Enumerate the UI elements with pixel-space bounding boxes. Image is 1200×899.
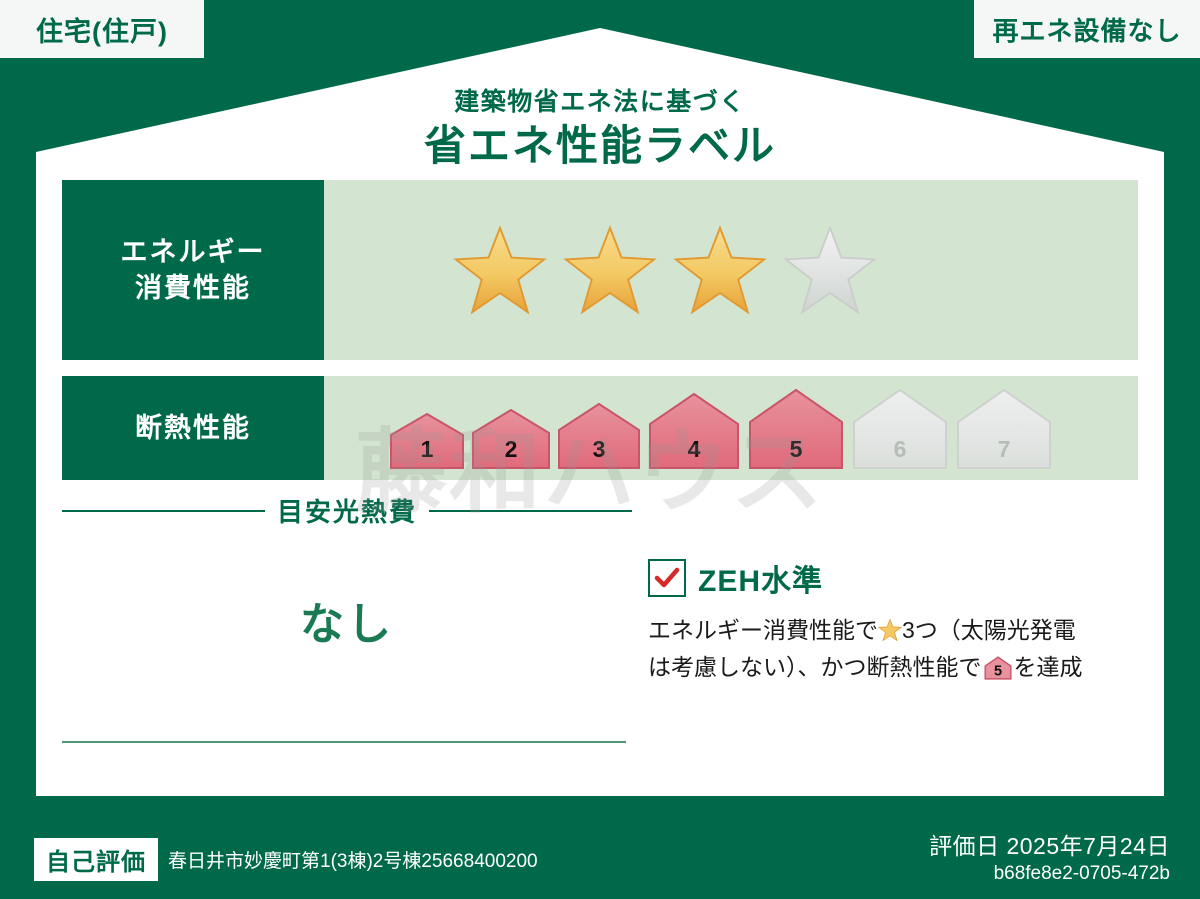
row-insulation-label: 断熱性能 <box>62 376 324 480</box>
inline-house-icon: 5 <box>984 656 1012 680</box>
row-energy-label-line1: エネルギー <box>121 234 266 270</box>
tag-building-type: 住宅(住戸) <box>0 0 204 58</box>
utility-cost-value: なし <box>62 588 632 652</box>
house-icon-level-2: 2 <box>470 406 552 477</box>
star-icon-filled-2 <box>562 224 658 316</box>
row-insulation-label-line1: 断熱性能 <box>135 410 251 446</box>
checkbox-checked-icon[interactable] <box>648 559 686 597</box>
house-level-number: 7 <box>954 436 1054 463</box>
house-icon-level-1: 1 <box>388 410 466 477</box>
inline-star-icon <box>878 618 902 642</box>
zeh-standard-block: ZEH水準 エネルギー消費性能で3つ（太陽光発電 は考慮しない）、かつ断熱性能で… <box>648 556 1148 687</box>
star-icon-filled-3 <box>672 224 768 316</box>
row-energy-label-line2: 消費性能 <box>135 270 251 306</box>
house-icon-level-5: 5 <box>746 386 846 477</box>
house-level-number: 4 <box>646 436 742 463</box>
page-title: 省エネ性能ラベル <box>0 112 1200 173</box>
house-icon-level-6: 6 <box>850 386 950 477</box>
star-icon-empty-4 <box>782 224 878 316</box>
row-insulation-performance: 断熱性能 1 2 <box>62 376 1138 480</box>
zeh-desc-part3: を達成 <box>1014 654 1083 680</box>
house-level-number: 3 <box>556 436 642 463</box>
house-icon-level-7: 7 <box>954 386 1054 477</box>
row-energy-value <box>324 180 1138 360</box>
energy-performance-label: 住宅(住戸) 再エネ設備なし 建築物省エネ法に基づく 省エネ性能ラベル 藤和ハウ… <box>0 0 1200 899</box>
row-energy-performance: エネルギー 消費性能 <box>62 180 1138 360</box>
zeh-desc-part2: は考慮しない）、かつ断熱性能で <box>648 654 982 680</box>
utility-cost-underline <box>62 741 626 743</box>
evaluation-date: 評価日 2025年7月24日 <box>929 827 1170 861</box>
insulation-level-scale: 1 2 3 4 <box>388 373 1054 483</box>
utility-cost-title: 目安光熱費 <box>277 492 417 529</box>
star-icon-filled-1 <box>452 224 548 316</box>
rule-left <box>62 510 265 512</box>
check-icon <box>654 567 680 589</box>
zeh-description: エネルギー消費性能で3つ（太陽光発電 は考慮しない）、かつ断熱性能で5を達成 <box>648 612 1148 687</box>
footer-left: 自己評価 春日井市妙慶町第1(3棟)2号棟25668400200 <box>34 838 538 881</box>
row-insulation-value: 1 2 3 4 <box>324 376 1138 480</box>
zeh-desc-stars: 3つ（太陽光発電 <box>902 617 1076 643</box>
house-level-number: 6 <box>850 436 950 463</box>
house-icon-level-3: 3 <box>556 400 642 477</box>
evaluation-id: b68fe8e2-0705-472b <box>929 863 1170 885</box>
utility-cost-header: 目安光熱費 <box>62 492 632 529</box>
zeh-title: ZEH水準 <box>698 556 823 600</box>
row-energy-label: エネルギー 消費性能 <box>62 180 324 360</box>
inline-house-icon-wrapper: 5 <box>984 654 1012 678</box>
house-icon-level-4: 4 <box>646 390 742 477</box>
rule-right <box>429 510 632 512</box>
property-address: 春日井市妙慶町第1(3棟)2号棟25668400200 <box>168 846 538 873</box>
tag-renewable-energy: 再エネ設備なし <box>974 0 1200 58</box>
svg-text:5: 5 <box>993 664 1001 680</box>
self-evaluation-badge: 自己評価 <box>34 838 158 881</box>
house-level-number: 5 <box>746 436 846 463</box>
house-level-number: 1 <box>388 436 466 463</box>
house-level-number: 2 <box>470 436 552 463</box>
footer-right: 評価日 2025年7月24日 b68fe8e2-0705-472b <box>929 827 1170 885</box>
star-rating <box>452 224 878 316</box>
zeh-header: ZEH水準 <box>648 556 1148 600</box>
zeh-desc-part1: エネルギー消費性能で <box>648 617 878 643</box>
